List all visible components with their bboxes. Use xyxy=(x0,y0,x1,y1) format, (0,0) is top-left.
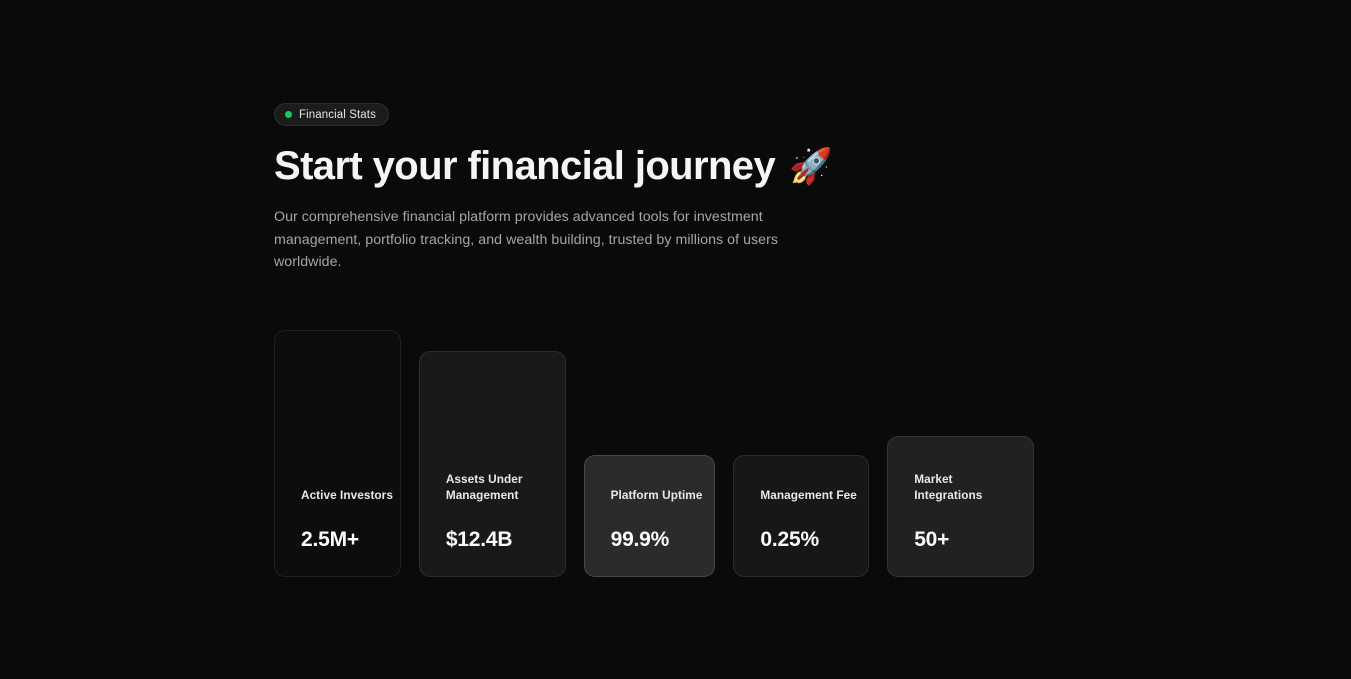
stat-label: Market Integrations xyxy=(914,472,1014,503)
stat-label: Management Fee xyxy=(760,488,860,504)
stat-card-market-integrations[interactable]: Market Integrations 50+ xyxy=(887,436,1034,577)
stat-card-active-investors[interactable]: Active Investors 2.5M+ xyxy=(274,330,401,577)
stats-page: Financial Stats Start your financial jou… xyxy=(0,0,1351,679)
status-dot-icon xyxy=(285,111,292,118)
stat-value: 2.5M+ xyxy=(301,529,400,550)
stat-card-management-fee[interactable]: Management Fee 0.25% xyxy=(733,455,869,577)
stat-card-assets-under-management[interactable]: Assets Under Management $12.4B xyxy=(419,351,566,577)
stat-label: Assets Under Management xyxy=(446,472,546,503)
page-title: Start your financial journey 🚀 xyxy=(274,145,1094,188)
stat-value: 99.9% xyxy=(611,529,715,550)
badge-label: Financial Stats xyxy=(299,109,376,121)
stat-value: 50+ xyxy=(914,529,1033,550)
financial-stats-badge[interactable]: Financial Stats xyxy=(274,103,389,126)
page-description: Our comprehensive financial platform pro… xyxy=(274,206,794,274)
rocket-icon: 🚀 xyxy=(789,149,832,184)
hero-content: Financial Stats Start your financial jou… xyxy=(274,103,1094,274)
stat-label: Platform Uptime xyxy=(611,488,711,504)
page-title-text: Start your financial journey xyxy=(274,145,775,188)
stat-value: $12.4B xyxy=(446,529,565,550)
stat-label: Active Investors xyxy=(301,488,400,504)
stat-value: 0.25% xyxy=(760,529,868,550)
stat-card-platform-uptime[interactable]: Platform Uptime 99.9% xyxy=(584,455,716,577)
stats-card-row: Active Investors 2.5M+ Assets Under Mana… xyxy=(274,330,1034,577)
